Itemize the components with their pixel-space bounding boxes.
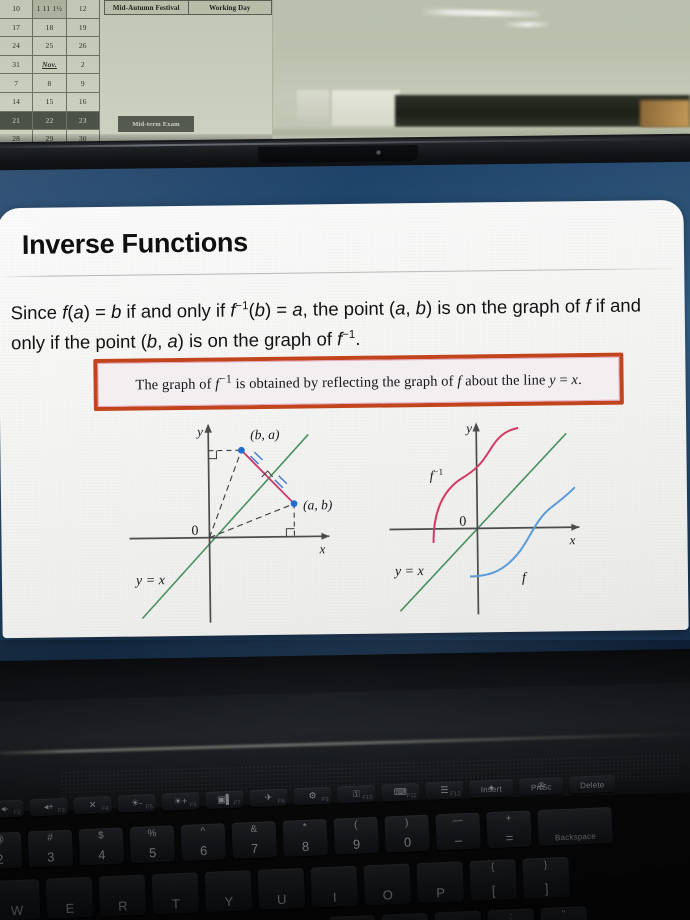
key-main-label: W (11, 903, 24, 919)
body-var-a: a (73, 301, 84, 322)
key-shift-label: ( (354, 820, 358, 831)
calendar-day-cell: 12 (67, 0, 100, 18)
body-text-run: Since (11, 302, 63, 324)
body-var-b: b (255, 299, 266, 320)
key-3[interactable]: #3 (28, 830, 73, 868)
key-mic-mute[interactable]: ✕F4 (73, 796, 112, 815)
key-airplane-mode[interactable]: ✈F8 (249, 789, 288, 808)
key-fn-label: F10 (362, 795, 373, 801)
key-keyboard-backlight[interactable]: ⌨F11 (381, 783, 420, 802)
key-fn-label: F12 (450, 791, 461, 797)
key-backspace[interactable]: Backspace (537, 807, 612, 846)
key-main-label: 7 (251, 841, 259, 856)
brightness-down-icon: ☀- (131, 798, 143, 809)
x-axis-arrow (571, 524, 579, 531)
key-main-label: 5 (149, 845, 157, 860)
key-insert[interactable]: ✦Insert (469, 779, 514, 798)
key-r[interactable]: R (99, 875, 147, 917)
label-curve-f: f (522, 571, 528, 586)
key-main-label: ] (544, 881, 548, 896)
key-0[interactable]: )0 (384, 815, 429, 853)
calendar-day-cell: 24 (0, 37, 33, 55)
webcam-notch (258, 145, 418, 163)
key-t[interactable]: T (152, 872, 200, 914)
key-main-label: U (277, 892, 287, 907)
body-var-b: b (111, 301, 122, 322)
key-shift-label: } (544, 860, 548, 871)
body-sup-minus-one: −1 (342, 329, 355, 341)
glass-warm-reflection (640, 100, 690, 128)
callout-run: is obtained by reflecting the graph of (232, 374, 458, 393)
key-shift-label: + (505, 813, 511, 824)
calendar-day-cell: 25 (33, 37, 66, 55)
key-fn-label: F2 (14, 810, 21, 816)
calendar-day-cell: 2 (67, 56, 100, 74)
calendar-legend-chip: Mid-Autumn Festival (104, 0, 189, 15)
app-switch-icon: ☰ (440, 785, 449, 796)
key-main-label: T (172, 896, 181, 911)
calendar-row: 101 11 1½12 (0, 0, 100, 19)
calendar-row: 141516 (0, 93, 100, 112)
body-sup-minus-one: −1 (235, 300, 248, 312)
key-8[interactable]: *8 (283, 819, 328, 857)
x-axis (389, 527, 579, 529)
key-main-label: R (118, 898, 128, 913)
key-main-label: 0 (404, 834, 412, 849)
key-fn-label: F8 (278, 799, 285, 805)
photo-of-laptop-screen: 101 11 1½1217181924252631Nov.27891415162… (0, 0, 690, 920)
calendar-row: 171819 (0, 19, 100, 38)
presentation-slide[interactable]: Inverse Functions Since f(a) = b if and … (0, 200, 689, 638)
calendar-day-cell: 21 (0, 112, 33, 130)
slide-title: Inverse Functions (22, 227, 248, 261)
keyboard-home-row[interactable]: JKL:;"' (329, 906, 588, 920)
key-main-label: [ (491, 883, 495, 898)
figure-reflection-diagram: y x 0 (b, a) (a, b) y = x (128, 416, 361, 631)
y-axis (208, 428, 210, 623)
calendar-day-cell: 23 (67, 112, 100, 130)
calendar-day-cell: 9 (67, 74, 100, 92)
keyboard-backlight-icon: ⌨ (394, 787, 407, 799)
key-7[interactable]: &7 (232, 821, 277, 859)
dashed-ray-to-lower-point (209, 504, 294, 538)
key-main-label: = (505, 830, 513, 845)
callout-run: . (578, 372, 582, 388)
calendar-day-cell: 31 (0, 56, 33, 74)
key-word-label: Insert (481, 785, 503, 795)
key-display-switch[interactable]: ▣▌F7 (205, 790, 244, 809)
figure-inverse-curves: y x 0 f−1 f y = x (388, 413, 611, 628)
calendar-day-cell: 17 (0, 19, 33, 37)
key-main-label: 9 (353, 837, 361, 852)
key-i[interactable]: I (310, 866, 358, 908)
callout-run: about the line (461, 372, 549, 389)
y-axis-label: y (464, 420, 472, 435)
callout-sup-minus-one: −1 (219, 373, 232, 385)
laptop-screen: Inverse Functions Since f(a) = b if and … (0, 162, 690, 671)
key-lock[interactable]: ⚿F10 (337, 785, 376, 804)
body-var-b: b (147, 331, 158, 352)
y-axis-label: y (195, 424, 203, 439)
origin-label: 0 (459, 515, 466, 530)
calendar-day-cell: 26 (67, 37, 100, 55)
title-divider (0, 268, 684, 277)
key-fn-label: F5 (146, 804, 153, 810)
key-shift-label: @ (0, 834, 4, 845)
calendar-legend: Mid-Autumn FestivalWorking Day (104, 0, 272, 15)
midterm-exam-chip: Mid-term Exam (118, 116, 194, 132)
calendar-row: 212223 (0, 112, 100, 131)
slide-figures: y x 0 (b, a) (a, b) y = x (0, 412, 689, 635)
volume-down-icon: ◂- (1, 803, 9, 814)
key-main-label: 3 (47, 849, 55, 864)
y-axis-arrow (204, 424, 212, 433)
key-shift-label: % (147, 828, 156, 839)
x-axis (129, 536, 329, 538)
calendar-legend-chip: Working Day (189, 0, 273, 15)
key-brightness-up[interactable]: ☀+F6 (161, 792, 200, 811)
key-main-label: I (333, 890, 337, 905)
label-point-b-a: (b, a) (250, 427, 280, 442)
key-volume-down[interactable]: ◂-F2 (0, 800, 24, 819)
key-word-label: Delete (580, 780, 605, 790)
calendar-day-cell: 16 (67, 93, 100, 111)
key-volume-up[interactable]: ◂+F3 (29, 798, 68, 817)
key-k[interactable]: K (382, 913, 430, 920)
body-var-a: a (167, 330, 178, 351)
key-fn-label: F11 (407, 793, 417, 799)
y-axis (476, 426, 478, 614)
right-angle-marker-y-axis (208, 451, 216, 459)
key-p[interactable]: P (416, 861, 464, 903)
key-main-label: 2 (0, 852, 4, 867)
body-text-run: ) is on the graph of (426, 295, 586, 318)
body-var-a: a (292, 299, 303, 320)
calendar-row: 31Nov.2 (0, 56, 100, 75)
calendar-day-cell: 8 (33, 74, 66, 92)
body-text-run: ) = (84, 301, 112, 322)
volume-up-icon: ◂+ (44, 801, 54, 812)
key-main-label: – (455, 832, 463, 847)
key-e[interactable]: E (46, 877, 94, 919)
calendar-day-cell: 15 (33, 93, 66, 111)
key-print-screen[interactable]: ✇PrtSc (519, 777, 564, 796)
x-axis-arrow (321, 533, 329, 540)
body-text-run: ) is on the graph of (178, 328, 338, 351)
theorem-text: The graph of f−1 is obtained by reflecti… (135, 369, 582, 394)
x-axis-label: x (568, 532, 575, 547)
key-shift-label: ^ (200, 826, 205, 837)
key-shift-label: ) (405, 818, 409, 829)
key-shift-label: { (491, 862, 495, 873)
dashed-ray-to-upper-point (208, 450, 242, 537)
key-shift-label: — (452, 815, 462, 826)
slide-body-text: Since f(a) = b if and only if f−1(b) = a… (11, 288, 674, 356)
mic-mute-icon: ✕ (89, 800, 97, 811)
glass-reflection-panel (332, 90, 400, 126)
label-point-a-b: (a, b) (303, 497, 333, 512)
body-text-run: , (157, 330, 168, 351)
key-fn-label: F4 (102, 806, 109, 812)
key-shift-label: : (509, 911, 512, 920)
brightness-up-icon: ☀+ (174, 796, 188, 808)
label-line-y-equals-x: y = x (134, 573, 166, 588)
key-l[interactable]: L (434, 911, 482, 920)
calendar-day-cell: 14 (0, 93, 33, 111)
y-axis-arrow (472, 422, 480, 431)
key-settings[interactable]: ⚙F9 (293, 787, 332, 806)
key-fn-label: F9 (322, 797, 329, 803)
key-main-label: Y (224, 894, 233, 909)
body-var-b: b (416, 297, 427, 318)
key-o[interactable]: O (363, 864, 411, 906)
calendar-day-cell: 18 (33, 19, 66, 37)
key-shift-label: # (47, 832, 53, 843)
key-brightness-down[interactable]: ☀-F5 (117, 794, 156, 813)
key-main-label: E (65, 901, 74, 916)
key-main-label: O (382, 887, 393, 902)
calendar-day-cell: 22 (33, 112, 66, 130)
line-y-equals-x (140, 434, 310, 618)
calendar-day-cell: 1 11 1½ (33, 0, 66, 18)
key--[interactable]: "' (540, 906, 588, 920)
key--[interactable]: :; (487, 908, 535, 920)
key-word-label: PrtSc (531, 783, 552, 793)
glass-reflection-object (297, 90, 329, 120)
callout-run: The graph of (135, 377, 215, 394)
settings-icon: ⚙ (308, 790, 317, 801)
x-axis-label: x (319, 541, 326, 556)
right-angle-marker-x-axis (286, 529, 294, 537)
body-text-run: , (405, 297, 416, 318)
key-j[interactable]: J (329, 915, 377, 920)
key-5[interactable]: %5 (130, 825, 175, 863)
key-shift-label: $ (98, 830, 104, 841)
curve-f (469, 487, 576, 576)
key-word-label: Backspace (555, 832, 596, 843)
key-main-label: 4 (98, 847, 106, 862)
calendar-row: 789 (0, 74, 100, 93)
key-delete[interactable]: Delete (569, 775, 616, 794)
label-curve-f-inverse: f−1 (430, 467, 444, 483)
key-shift-label: * (303, 822, 307, 833)
key--[interactable]: {[ (469, 859, 517, 901)
body-text-run: . (355, 328, 360, 349)
key-fn-label: F6 (190, 802, 197, 808)
lock-icon: ⚿ (353, 789, 360, 800)
key-main-label: 6 (200, 843, 208, 858)
key-9[interactable]: (9 (333, 817, 378, 855)
calendar-day-cell: 19 (67, 19, 100, 37)
key-fn-label: F3 (58, 808, 65, 814)
key-2[interactable]: @2 (0, 832, 22, 870)
label-line-y-equals-x: y = x (393, 564, 425, 579)
callout-run: = (556, 372, 572, 388)
body-var-a: a (395, 297, 406, 318)
key--[interactable]: += (486, 810, 531, 848)
key-main-label: P (436, 885, 445, 900)
calendar-grid: 101 11 1½1217181924252631Nov.27891415162… (0, 0, 100, 148)
theorem-callout-box: The graph of f−1 is obtained by reflecti… (93, 353, 624, 411)
body-text-run: , the point ( (302, 298, 395, 320)
key-fn-label: F7 (234, 801, 241, 807)
key-main-label: 8 (302, 839, 310, 854)
key-shift-label: " (562, 909, 566, 920)
origin-label: 0 (191, 524, 198, 539)
key-6[interactable]: ^6 (181, 823, 226, 861)
key-y[interactable]: Y (205, 870, 253, 912)
ceiling-light-reflection-small (505, 22, 550, 27)
key-u[interactable]: U (258, 868, 306, 910)
key-shift-label: & (250, 824, 257, 835)
display-switch-icon: ▣▌ (217, 794, 232, 806)
calendar-day-cell: Nov. (33, 56, 66, 74)
theorem-callout-inner: The graph of f−1 is obtained by reflecti… (97, 357, 619, 407)
airplane-mode-icon: ✈ (265, 792, 273, 803)
calendar-row: 242526 (0, 37, 100, 56)
key-w[interactable]: W (0, 879, 40, 920)
webcam-icon (376, 150, 381, 155)
congruence-ticks (250, 452, 286, 488)
key-4[interactable]: $4 (79, 827, 124, 865)
key--[interactable]: }] (522, 857, 570, 899)
calendar-day-cell: 10 (0, 0, 33, 18)
key-app-switch[interactable]: ☰F12 (425, 781, 464, 800)
key--[interactable]: —– (435, 813, 480, 851)
body-text-run: ) = (265, 299, 293, 320)
calendar-day-cell: 7 (0, 74, 33, 92)
calendar-poster: 101 11 1½1217181924252631Nov.27891415162… (0, 0, 272, 148)
body-text-run: if and only if (121, 300, 230, 322)
